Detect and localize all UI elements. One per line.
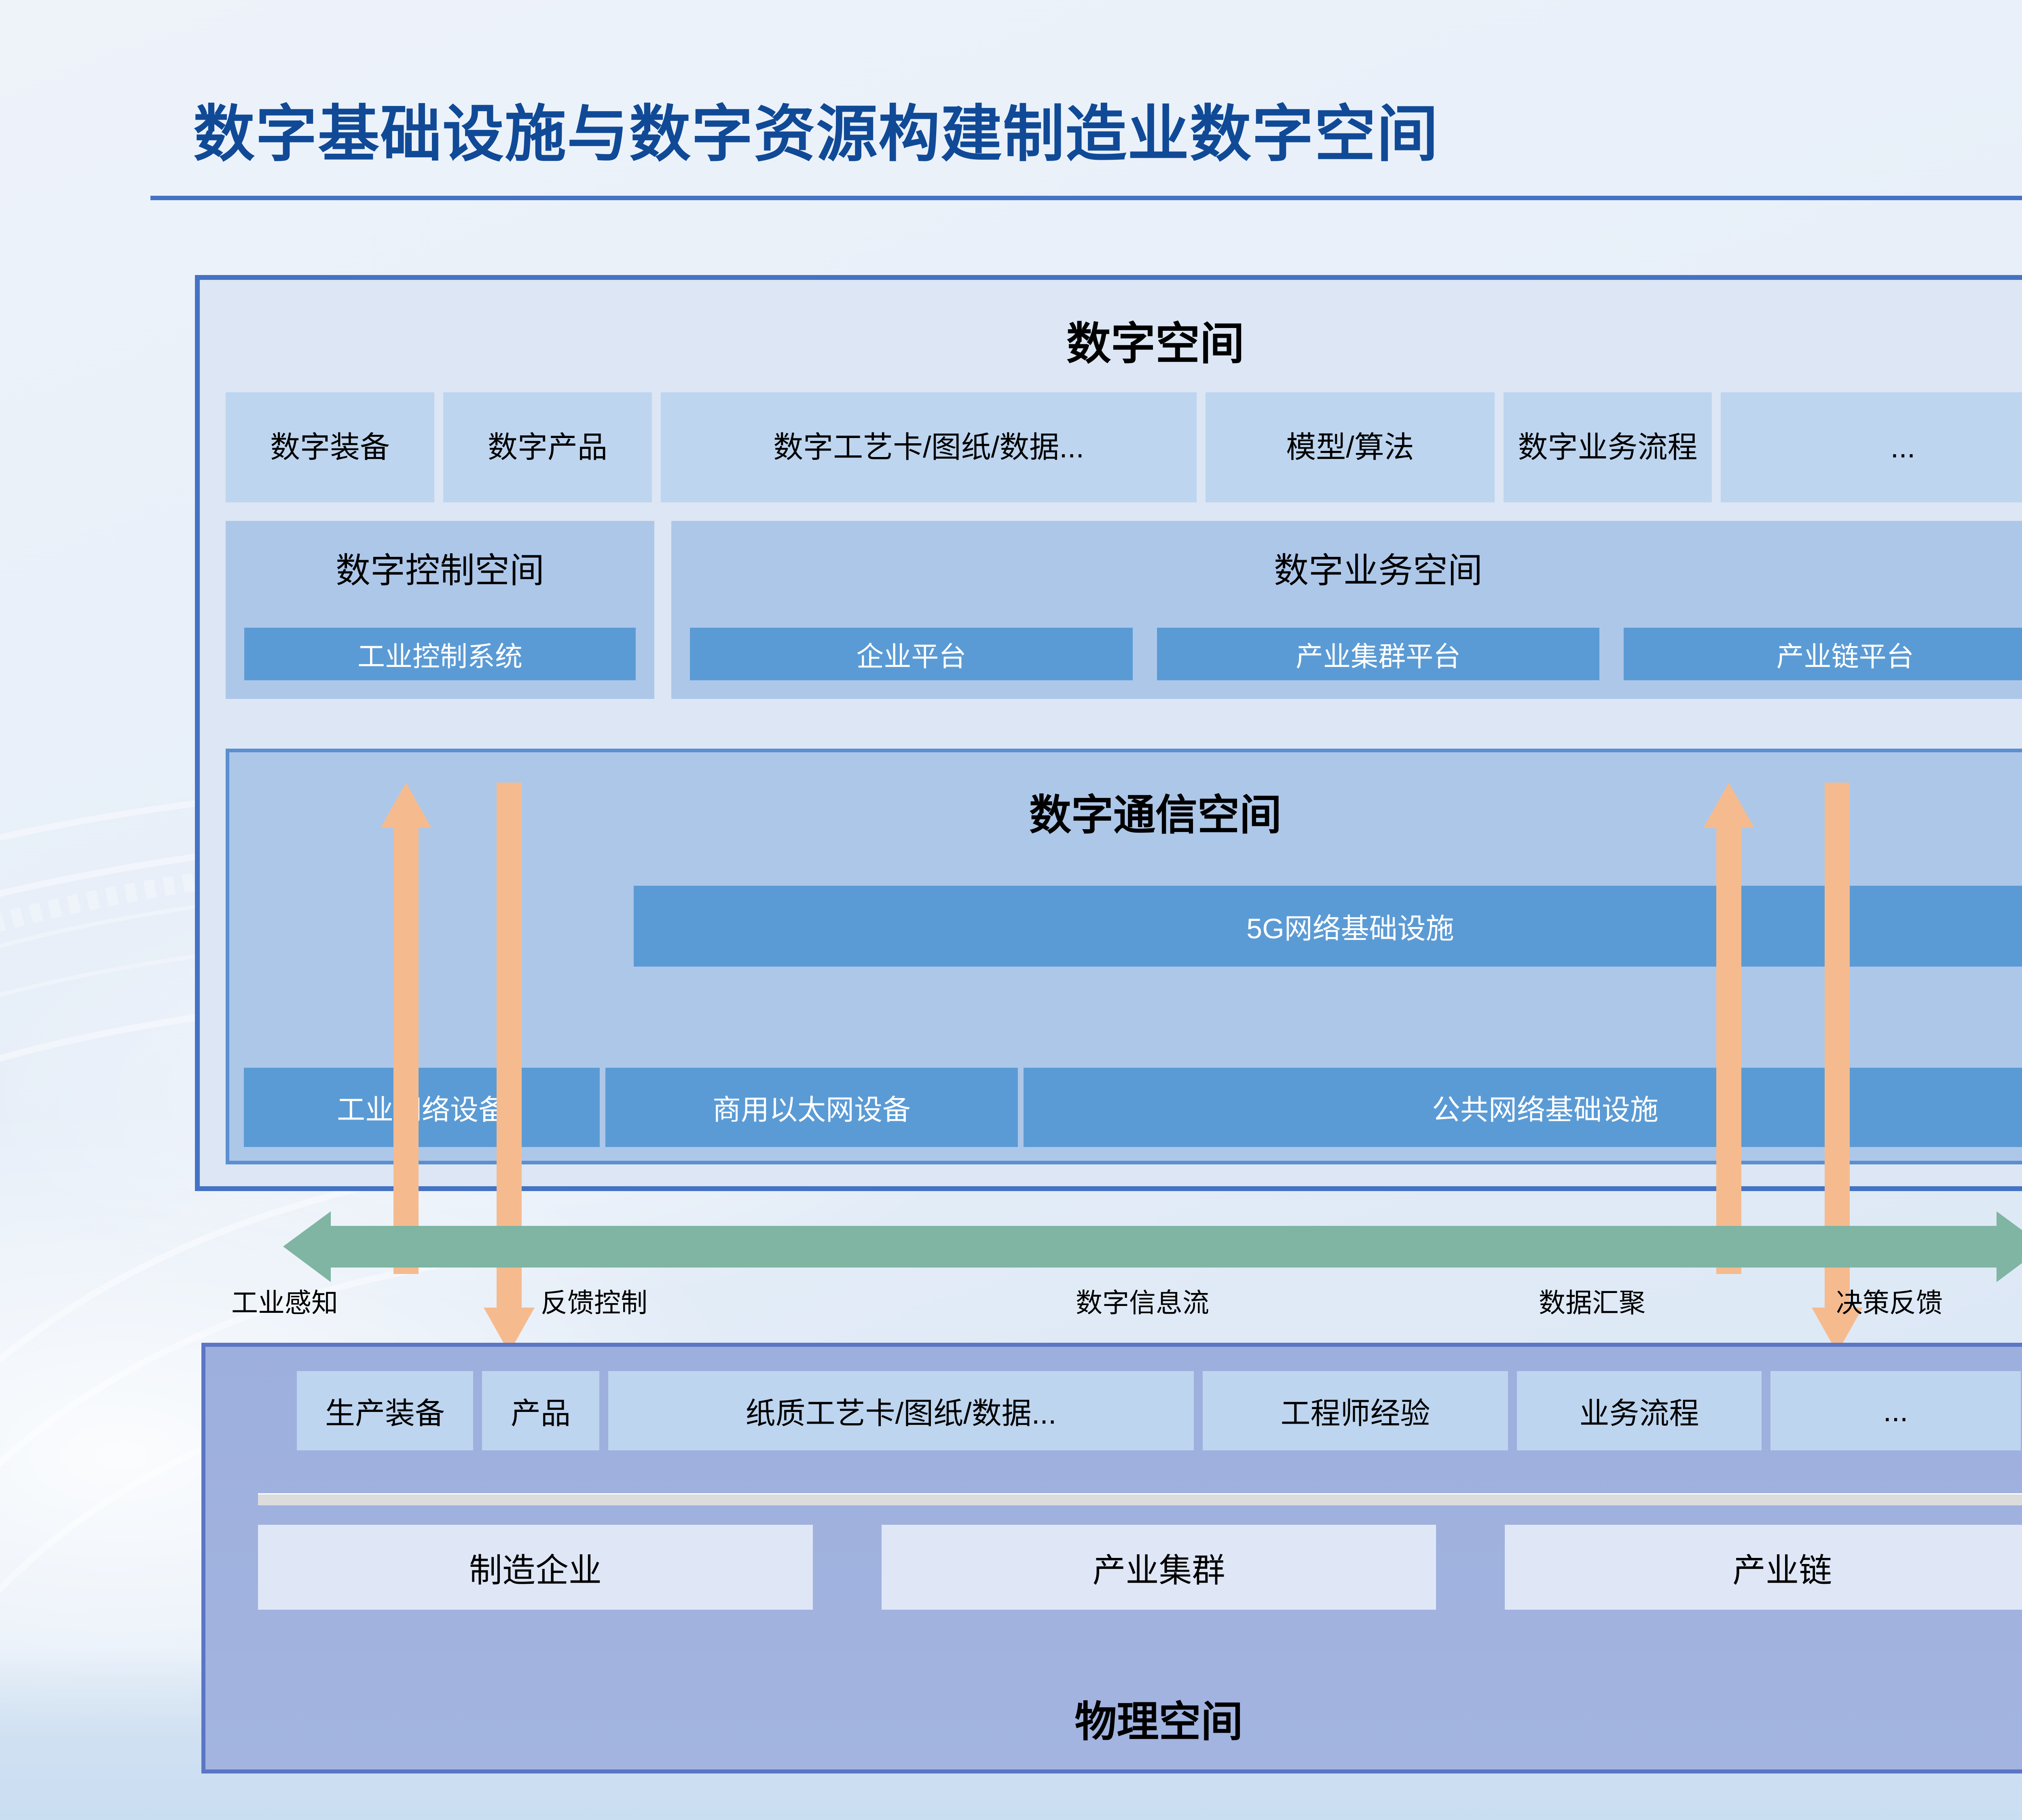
flow-label-decision-feedback: 决策反馈 — [1836, 1281, 1943, 1320]
device-cell-commercial-ethernet[interactable]: 商用以太网设备 — [605, 1068, 1018, 1147]
business-platform-row: 企业平台 产业集群平台 产业链平台 — [690, 628, 2022, 680]
physical-organization-row: 制造企业 产业集群 产业链 — [258, 1525, 2022, 1610]
digital-business-space: 数字业务空间 企业平台 产业集群平台 产业链平台 — [671, 521, 2022, 699]
platform-cell-industrial-control-system[interactable]: 工业控制系统 — [244, 628, 636, 680]
title-underline-rule — [150, 196, 2022, 200]
flow-label-industrial-sensing: 工业感知 — [231, 1281, 338, 1320]
arrow-up-data-aggregation-right — [1703, 783, 1754, 1274]
digital-resource-cell[interactable]: 数字业务流程 — [1504, 392, 1712, 502]
platform-cell-industry-chain[interactable]: 产业链平台 — [1624, 628, 2022, 680]
control-platform-row: 工业控制系统 — [244, 628, 636, 680]
physical-resource-cell[interactable]: ... — [1770, 1371, 2021, 1450]
flow-label-feedback-control: 反馈控制 — [541, 1281, 647, 1320]
digital-business-space-label: 数字业务空间 — [671, 542, 2022, 593]
digital-resource-cell[interactable]: 数字产品 — [443, 392, 652, 502]
physical-space-container: 生产装备 产品 纸质工艺卡/图纸/数据... 工程师经验 业务流程 ... 制造… — [201, 1343, 2022, 1773]
bidirectional-information-flow-arrow — [283, 1211, 2022, 1282]
physical-space-title: 物理空间 — [205, 1687, 2022, 1748]
organization-cell-industry-cluster[interactable]: 产业集群 — [882, 1525, 1436, 1610]
physical-resource-cell[interactable]: 产品 — [482, 1371, 599, 1450]
digital-resource-cell[interactable]: 数字工艺卡/图纸/数据... — [661, 392, 1197, 502]
digital-space-title: 数字空间 — [200, 307, 2022, 372]
digital-subspace-row: 数字控制空间 工业控制系统 数字业务空间 企业平台 产业集群平台 产业链平台 — [226, 521, 2022, 699]
slide-header: 数字基础设施与数字资源构建制造业数字空间 CAII+ 中国工业互联网研究院 Ch… — [0, 0, 2022, 210]
digital-resource-row: 数字装备 数字产品 数字工艺卡/图纸/数据... 模型/算法 数字业务流程 ..… — [226, 392, 2022, 502]
flow-label-data-aggregation: 数据汇聚 — [1539, 1281, 1646, 1320]
digital-resource-cell[interactable]: 模型/算法 — [1206, 392, 1495, 502]
organization-cell-manufacturing-enterprise[interactable]: 制造企业 — [258, 1525, 813, 1610]
digital-control-space-label: 数字控制空间 — [226, 542, 654, 593]
platform-cell-industry-cluster[interactable]: 产业集群平台 — [1157, 628, 1600, 680]
digital-control-space: 数字控制空间 工业控制系统 — [226, 521, 654, 699]
digital-resource-cell[interactable]: ... — [1721, 392, 2022, 502]
physical-resource-cell[interactable]: 工程师经验 — [1203, 1371, 1508, 1450]
organization-cell-industry-chain[interactable]: 产业链 — [1505, 1525, 2022, 1610]
page-title: 数字基础设施与数字资源构建制造业数字空间 — [193, 84, 1439, 173]
physical-resource-row: 生产装备 产品 纸质工艺卡/图纸/数据... 工程师经验 业务流程 ... — [297, 1371, 2021, 1450]
platform-cell-enterprise[interactable]: 企业平台 — [690, 628, 1133, 680]
physical-resource-cell[interactable]: 业务流程 — [1517, 1371, 1762, 1450]
digital-resource-cell[interactable]: 数字装备 — [226, 392, 434, 502]
arrow-up-industrial-sensing-left — [381, 783, 431, 1274]
flow-label-digital-info-stream: 数字信息流 — [1076, 1281, 1209, 1320]
physical-resource-cell[interactable]: 生产装备 — [297, 1371, 473, 1450]
device-cell-public-network[interactable]: 公共网络基础设施 — [1024, 1068, 2022, 1147]
physical-resource-cell[interactable]: 纸质工艺卡/图纸/数据... — [608, 1371, 1194, 1450]
physical-space-divider — [258, 1493, 2022, 1505]
